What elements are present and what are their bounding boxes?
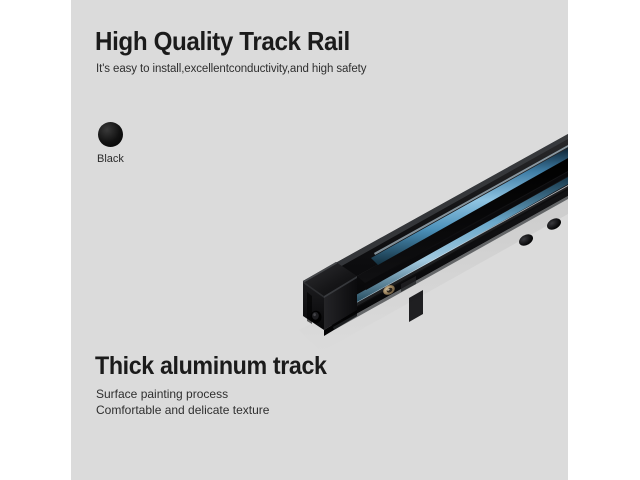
color-swatch-label: Black [97, 153, 157, 165]
product-banner-panel: High Quality Track Rail It's easy to ins… [71, 0, 568, 480]
feature-item: Surface painting process [96, 386, 269, 402]
feature-list: Surface painting process Comfortable and… [96, 386, 269, 418]
page-title: High Quality Track Rail [95, 26, 350, 57]
section-title-aluminum-track: Thick aluminum track [95, 352, 327, 381]
feature-item: Comfortable and delicate texture [96, 402, 269, 418]
color-swatch-circle[interactable] [98, 122, 123, 147]
screenshot-canvas: High Quality Track Rail It's easy to ins… [0, 0, 640, 480]
headline-subtext: It's easy to install,excellentconductivi… [96, 63, 366, 75]
color-option-black[interactable]: Black [97, 122, 157, 165]
